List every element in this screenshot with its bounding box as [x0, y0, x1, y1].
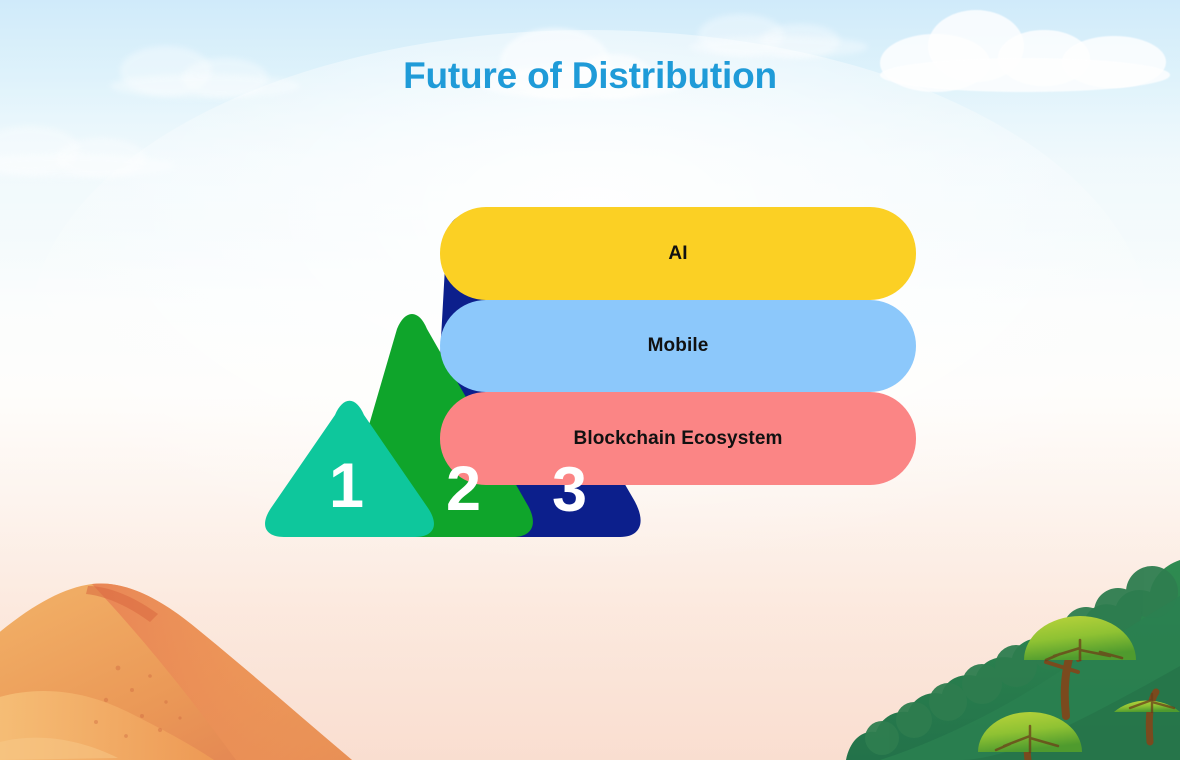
- bar-ai[interactable]: AI: [440, 207, 916, 300]
- infographic: AI Mobile Blockchain Ecosystem: [0, 0, 1180, 760]
- bar-label-mobile: Mobile: [648, 335, 709, 357]
- slide-canvas: Future of Distribution: [0, 0, 1180, 760]
- page-title: Future of Distribution: [0, 55, 1180, 97]
- bar-blockchain-ecosystem[interactable]: Blockchain Ecosystem: [440, 392, 916, 485]
- bar-label-blockchain-ecosystem: Blockchain Ecosystem: [574, 428, 783, 450]
- step-number-2: 2: [446, 458, 481, 521]
- step-number-3: 3: [552, 459, 587, 522]
- bar-label-ai: AI: [668, 243, 687, 265]
- step-number-1: 1: [329, 455, 364, 518]
- bar-mobile[interactable]: Mobile: [440, 300, 916, 392]
